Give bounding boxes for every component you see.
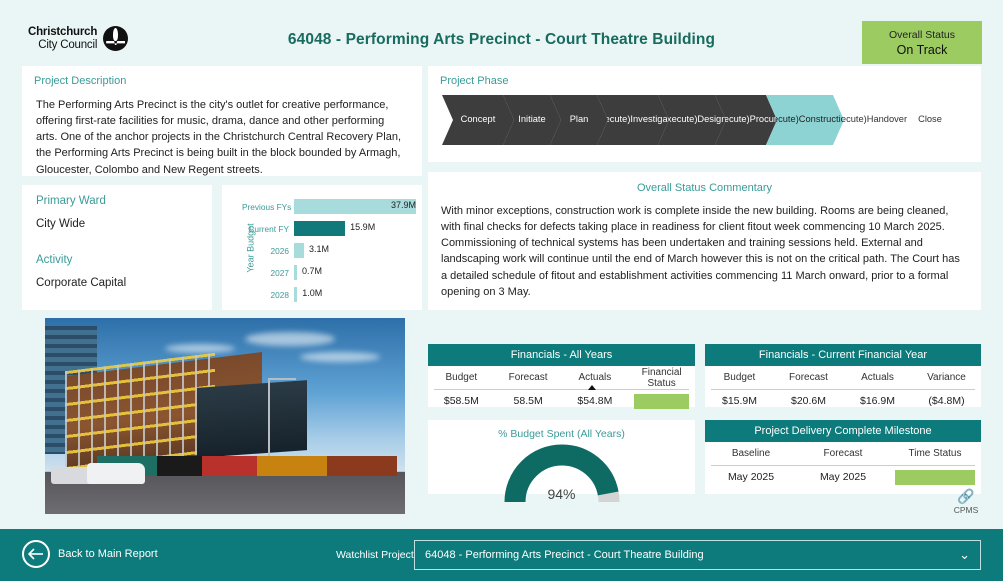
ward-activity-card: Primary Ward City Wide Activity Corporat… — [22, 185, 212, 310]
cell-forecast: $20.6M — [774, 395, 843, 407]
financials-all-years-header-row: Budget Forecast Actuals Financial Status — [428, 366, 695, 389]
column-header: Budget — [428, 372, 495, 383]
report-page: Christchurch City Council 64048 - Perfor… — [0, 0, 1003, 581]
chart-bar[interactable] — [294, 265, 297, 280]
back-to-main-report-button[interactable]: Back to Main Report — [22, 540, 158, 568]
financials-all-years-table: Financials - All Years Budget Forecast A… — [428, 344, 695, 407]
cloud-shape — [165, 344, 235, 353]
chart-bar-value: 37.9M — [391, 200, 416, 210]
cell-financial-status — [628, 394, 695, 409]
status-badge-label: Overall Status — [889, 29, 955, 41]
table-row: $58.5M 58.5M $54.8M — [428, 390, 695, 412]
milestone-title: Project Delivery Complete Milestone — [705, 420, 981, 442]
chart-bar[interactable] — [294, 287, 297, 302]
column-header: Forecast — [797, 448, 889, 459]
project-photo-image — [45, 318, 405, 514]
cell-actuals: $54.8M — [562, 395, 629, 407]
cloud-shape — [245, 332, 335, 346]
column-header: Time Status — [889, 448, 981, 459]
status-badge: Overall Status On Track — [862, 21, 982, 64]
phase-segment-line1: Concept — [461, 114, 496, 125]
chart-bar-row[interactable]: 20270.7M — [242, 263, 420, 282]
phase-segment-line2: Design — [697, 114, 726, 125]
activity-value: Corporate Capital — [36, 277, 198, 289]
chart-bar-value: 3.1M — [309, 244, 329, 254]
chart-bar-row[interactable]: Previous FYs37.9M — [242, 197, 420, 216]
column-header: Baseline — [705, 448, 797, 459]
cpms-link[interactable]: 🔗 CPMS — [943, 489, 989, 515]
cpms-label: CPMS — [943, 505, 989, 515]
arrow-left-circle-icon — [22, 540, 50, 568]
phase-segment-concept[interactable]: Concept — [442, 95, 514, 145]
phase-segment-line1: Initiate — [518, 114, 545, 125]
status-badge-value: On Track — [897, 43, 948, 57]
chart-bar-value: 15.9M — [350, 222, 375, 232]
link-icon: 🔗 — [943, 489, 989, 503]
financials-all-years-title: Financials - All Years — [428, 344, 695, 366]
chart-category-label: Current FY — [242, 224, 294, 234]
chart-category-label: 2026 — [242, 246, 294, 256]
project-phase-track: ConceptInitiatePlan(Execute)Investigate(… — [442, 95, 959, 145]
column-header: Forecast — [495, 372, 562, 383]
column-header: Forecast — [774, 372, 843, 383]
back-to-main-report-label: Back to Main Report — [58, 548, 158, 560]
phase-segment-construction[interactable]: (Execute)Construction — [766, 95, 844, 145]
phase-segment-line1: Close — [918, 114, 942, 125]
table-row: $15.9M $20.6M $16.9M ($4.8M) — [705, 390, 981, 412]
cloud-shape — [300, 352, 380, 362]
financial-status-bar — [634, 394, 689, 409]
table-row: May 2025 May 2025 — [705, 466, 981, 488]
activity-title: Activity — [36, 254, 198, 266]
time-status-bar — [895, 470, 975, 485]
chart-bar-row[interactable]: 20281.0M — [242, 285, 420, 304]
year-budget-chart-card: Year Budget Previous FYs37.9MCurrent FY1… — [222, 185, 422, 310]
scaffolding — [65, 353, 215, 471]
chart-bar[interactable] — [294, 221, 345, 236]
chart-bar-row[interactable]: Current FY15.9M — [242, 219, 420, 238]
chart-category-label: Previous FYs — [242, 202, 294, 212]
column-header: Actuals — [843, 372, 912, 383]
budget-spent-gauge: 94% — [503, 444, 621, 504]
status-commentary-card: Overall Status Commentary With minor exc… — [428, 172, 981, 310]
cell-variance: ($4.8M) — [912, 395, 981, 407]
chevron-down-icon: ⌄ — [959, 547, 970, 563]
chart-bar-track: 37.9M — [294, 199, 420, 214]
budget-spent-gauge-card: % Budget Spent (All Years) 94% — [428, 420, 695, 494]
cell-baseline: May 2025 — [705, 471, 797, 483]
cell-time-status — [889, 470, 981, 485]
chart-bar-value: 0.7M — [302, 266, 322, 276]
project-description-text: The Performing Arts Precinct is the city… — [22, 87, 422, 178]
footer-bar: Back to Main Report Watchlist Project: 6… — [0, 529, 1003, 581]
cell-actuals: $16.9M — [843, 395, 912, 407]
watchlist-label: Watchlist Project: — [336, 549, 417, 561]
budget-spent-gauge-title: % Budget Spent (All Years) — [428, 420, 695, 440]
watchlist-project-select[interactable]: 64048 - Performing Arts Precinct - Court… — [414, 540, 981, 570]
cell-forecast: 58.5M — [495, 395, 562, 407]
project-phase-card: Project Phase ConceptInitiatePlan(Execut… — [428, 66, 981, 162]
budget-spent-gauge-value: 94% — [503, 486, 621, 502]
glass-facade — [197, 380, 307, 458]
financials-current-year-title: Financials - Current Financial Year — [705, 344, 981, 366]
financials-current-year-header-row: Budget Forecast Actuals Variance — [705, 366, 981, 389]
primary-ward-value: City Wide — [36, 218, 198, 230]
page-header: Christchurch City Council 64048 - Perfor… — [0, 0, 1003, 66]
chart-bar-row[interactable]: 20263.1M — [242, 241, 420, 260]
primary-ward-title: Primary Ward — [36, 195, 198, 207]
cell-budget: $15.9M — [705, 395, 774, 407]
watchlist-project-value: 64048 - Performing Arts Precinct - Court… — [425, 549, 959, 561]
chart-bar-track: 1.0M — [294, 287, 420, 302]
chart-category-label: 2027 — [242, 268, 294, 278]
project-description-card: Project Description The Performing Arts … — [22, 66, 422, 176]
year-budget-chart: Year Budget Previous FYs37.9MCurrent FY1… — [222, 185, 422, 310]
project-photo — [45, 318, 405, 514]
column-header: Financial Status — [628, 367, 695, 389]
chart-bar-track: 0.7M — [294, 265, 420, 280]
project-description-title: Project Description — [22, 66, 422, 87]
milestone-table: Project Delivery Complete Milestone Base… — [705, 420, 981, 494]
milestone-header-row: Baseline Forecast Time Status — [705, 442, 981, 465]
phase-segment-line1: Plan — [570, 114, 589, 125]
cell-forecast: May 2025 — [797, 471, 889, 483]
project-phase-title: Project Phase — [428, 66, 981, 87]
parked-car — [87, 463, 145, 484]
chart-bar[interactable] — [294, 243, 304, 258]
status-commentary-title: Overall Status Commentary — [428, 172, 981, 194]
chart-category-label: 2028 — [242, 290, 294, 300]
status-commentary-text: With minor exceptions, construction work… — [428, 194, 981, 300]
column-header: Actuals — [562, 372, 629, 383]
ward-activity-body: Primary Ward City Wide Activity Corporat… — [22, 185, 212, 299]
column-header: Variance — [912, 372, 981, 383]
column-header: Budget — [705, 372, 774, 383]
phase-segment-close[interactable]: Close — [901, 95, 959, 145]
chart-bars: Previous FYs37.9MCurrent FY15.9M20263.1M… — [242, 197, 420, 307]
chart-bar-value: 1.0M — [302, 288, 322, 298]
financials-current-year-table: Financials - Current Financial Year Budg… — [705, 344, 981, 407]
chart-bar-track: 3.1M — [294, 243, 420, 258]
cell-budget: $58.5M — [428, 395, 495, 407]
status-marker-icon — [588, 385, 596, 390]
arrow-left-glyph — [28, 548, 44, 560]
page-title: 64048 - Performing Arts Precinct - Court… — [0, 31, 1003, 49]
chart-bar-track: 15.9M — [294, 221, 420, 236]
